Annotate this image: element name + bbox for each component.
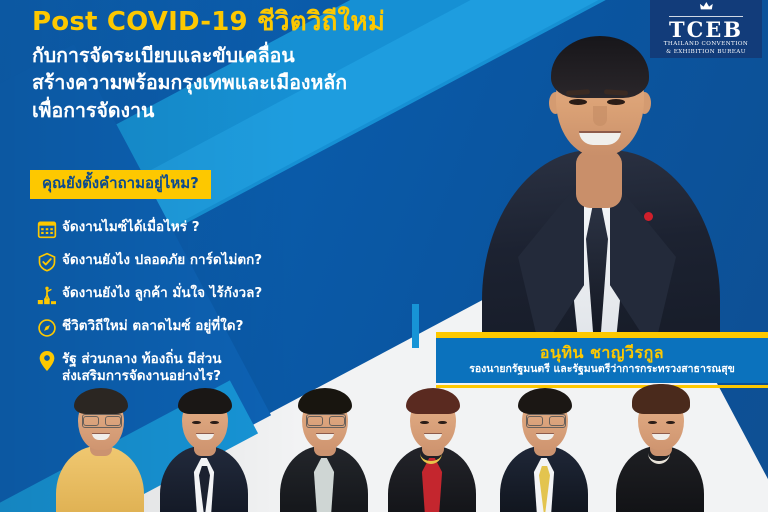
- speaker-caption: อนุทิน ชาญวีรกูล รองนายกรัฐมนตรี และรัฐม…: [436, 332, 768, 388]
- panel-edge-accent: [412, 304, 419, 348]
- panelist-eye-left: [420, 421, 429, 425]
- panelist-eye-left: [192, 421, 201, 425]
- panelist-row: [0, 382, 768, 512]
- panelist-eye-right: [438, 421, 447, 425]
- panelist-hair: [298, 388, 352, 414]
- question-text: ชีวิตวิถีใหม่ ตลาดไมซ์ อยู่ที่ใด?: [62, 315, 243, 335]
- panelist-eye-left: [648, 421, 657, 425]
- list-item: จัดงานยังไง ลูกค้า มั่นใจ ไร้กังวล?: [32, 282, 392, 308]
- speaker-name: อนุทิน ชาญวีรกูล: [446, 343, 758, 362]
- headline-subtitle: กับการจัดระเบียบและขับเคลื่อน สร้างความพ…: [32, 42, 462, 125]
- panelist-4: [380, 386, 484, 512]
- eyeglasses-icon: [306, 414, 346, 428]
- question-badge: คุณยังตั้งคำถามอยู่ไหม?: [30, 170, 211, 199]
- question-text: รัฐ ส่วนกลาง ท้องถิ่น มีส่วน ส่งเสริมการ…: [62, 348, 221, 386]
- main-speaker-portrait: [448, 0, 748, 348]
- speaker-hair: [551, 36, 649, 98]
- panelist-1: [48, 386, 152, 512]
- question-list: จัดงานไมซ์ได้เมื่อไหร่ ? จัดงานยังไง ปลอ…: [32, 216, 392, 393]
- headline-subtitle-line2: สร้างความพร้อมกรุงเทพและเมืองหลัก: [32, 69, 462, 97]
- question-text: จัดงานยังไง ปลอดภัย การ์ดไม่ตก?: [62, 249, 262, 269]
- panelist-hair: [74, 388, 128, 414]
- speaker-role: รองนายกรัฐมนตรี และรัฐมนตรีว่าการกระทรวง…: [446, 363, 758, 376]
- eyeglasses-icon: [526, 414, 566, 428]
- question-text: จัดงานไมซ์ได้เมื่อไหร่ ?: [62, 216, 200, 236]
- panelist-hair: [178, 388, 232, 414]
- question-text: จัดงานยังไง ลูกค้า มั่นใจ ไร้กังวล?: [62, 282, 262, 302]
- page-title: Post COVID-19 ชีวิตวิถีใหม่: [32, 6, 462, 39]
- headline-block: Post COVID-19 ชีวิตวิถีใหม่ กับการจัดระเ…: [32, 6, 462, 125]
- compass-icon: [32, 315, 62, 341]
- panelist-eye-right: [210, 421, 219, 425]
- panelist-eye-right: [666, 421, 675, 425]
- panelist-hair: [632, 384, 690, 414]
- location-pin-icon: [32, 348, 62, 374]
- list-item: รัฐ ส่วนกลาง ท้องถิ่น มีส่วน ส่งเสริมการ…: [32, 348, 392, 386]
- speaker-neck: [576, 150, 622, 208]
- eyeglasses-icon: [82, 414, 122, 428]
- speaker-eye-right: [607, 99, 625, 105]
- list-item: จัดงานไมซ์ได้เมื่อไหร่ ?: [32, 216, 392, 242]
- speaker-nose: [593, 106, 607, 126]
- panelist-3: [272, 386, 376, 512]
- poster-canvas: TCEB THAILAND CONVENTION & EXHIBITION BU…: [0, 0, 768, 512]
- calendar-icon: [32, 216, 62, 242]
- caption-body: อนุทิน ชาญวีรกูล รองนายกรัฐมนตรี และรัฐม…: [436, 338, 768, 383]
- speaker-lapel-pin: [644, 212, 653, 221]
- panelist-hair: [406, 388, 460, 414]
- panelist-hair: [518, 388, 572, 414]
- speaker-eye-left: [569, 99, 587, 105]
- shield-check-icon: [32, 249, 62, 275]
- headline-subtitle-line1: กับการจัดระเบียบและขับเคลื่อน: [32, 42, 462, 70]
- list-item: จัดงานยังไง ปลอดภัย การ์ดไม่ตก?: [32, 249, 392, 275]
- panelist-2: [152, 386, 256, 512]
- headline-subtitle-line3: เพื่อการจัดงาน: [32, 97, 462, 125]
- panelist-5: [492, 386, 596, 512]
- panelist-6: [608, 386, 712, 512]
- list-item: ชีวิตวิถีใหม่ ตลาดไมซ์ อยู่ที่ใด?: [32, 315, 392, 341]
- podium-speaker-icon: [32, 282, 62, 308]
